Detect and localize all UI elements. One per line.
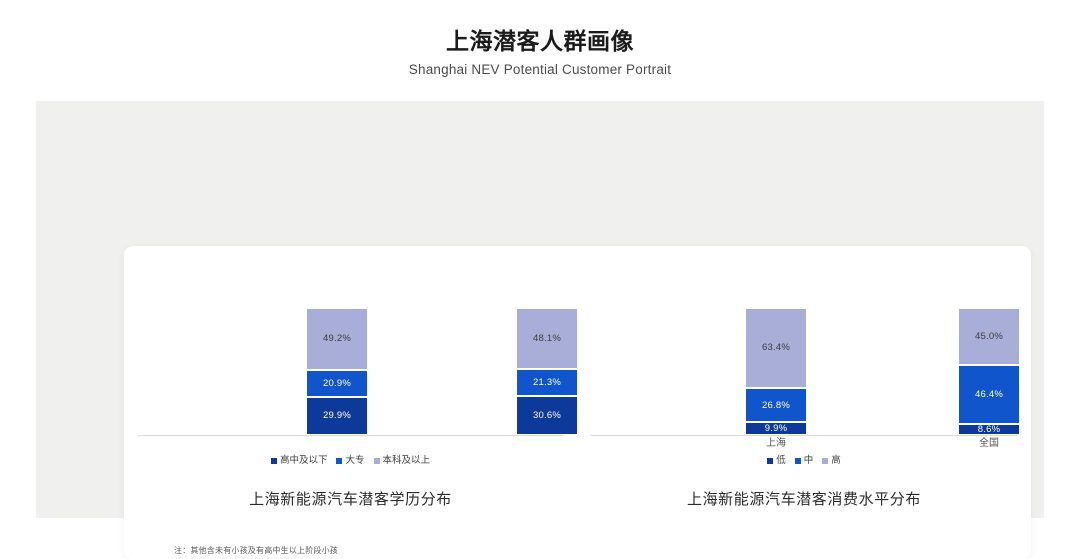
chart-card: 49.2% 20.9% 29.9% 48.1% 21.3% 30.6% — [124, 246, 1031, 559]
plot-area-consumption: 63.4% 26.8% 9.9% 45.0% 46.4% 8.6% — [577, 246, 1031, 436]
bar-segment-mid: 20.9% — [306, 370, 368, 397]
legend-swatch-icon — [271, 458, 277, 464]
plot-area-education: 49.2% 20.9% 29.9% 48.1% 21.3% 30.6% — [124, 246, 577, 436]
bar-segment-low: 30.6% — [516, 396, 578, 435]
x-tick-label: 上海 — [731, 437, 821, 451]
legend-label: 本科及以上 — [383, 455, 431, 467]
bar-segment-low: 9.9% — [745, 422, 807, 435]
bar-segment-mid: 21.3% — [516, 369, 578, 396]
x-axis-labels — [124, 437, 577, 453]
legend-item[interactable]: 高中及以下 — [271, 455, 328, 467]
bar-segment-high: 48.1% — [516, 308, 578, 369]
chart-caption: 上海新能源汽车潜客学历分布 — [124, 489, 577, 511]
stacked-bar[interactable]: 63.4% 26.8% 9.9% — [745, 308, 807, 435]
legend-consumption: 低 中 高 — [577, 455, 1031, 467]
x-axis-line — [138, 435, 563, 436]
page-header: 上海潜客人群画像 Shanghai NEV Potential Customer… — [0, 0, 1080, 79]
legend-label: 低 — [776, 455, 786, 467]
legend-item[interactable]: 本科及以上 — [374, 455, 431, 467]
chart-education: 49.2% 20.9% 29.9% 48.1% 21.3% 30.6% — [124, 246, 577, 559]
bar-segment-mid: 46.4% — [958, 365, 1020, 424]
chart-caption: 上海新能源汽车潜客消费水平分布 — [577, 489, 1031, 511]
x-tick-label: 全国 — [944, 437, 1034, 451]
stacked-bar[interactable]: 49.2% 20.9% 29.9% — [306, 308, 368, 435]
slide-panel: 49.2% 20.9% 29.9% 48.1% 21.3% 30.6% — [36, 101, 1044, 518]
bar-segment-mid: 26.8% — [745, 388, 807, 422]
legend-item[interactable]: 低 — [767, 455, 786, 467]
legend-swatch-icon — [336, 458, 342, 464]
stacked-bar[interactable]: 45.0% 46.4% 8.6% — [958, 308, 1020, 435]
legend-label: 中 — [804, 455, 814, 467]
charts-container: 49.2% 20.9% 29.9% 48.1% 21.3% 30.6% — [124, 246, 1031, 559]
legend-label: 高中及以下 — [280, 455, 328, 467]
bar-segment-low: 29.9% — [306, 397, 368, 435]
legend-item[interactable]: 大专 — [336, 455, 364, 467]
chart-consumption: 63.4% 26.8% 9.9% 45.0% 46.4% 8.6% 上海 全国 — [577, 246, 1031, 559]
legend-item[interactable]: 高 — [822, 455, 841, 467]
legend-swatch-icon — [374, 458, 380, 464]
bar-segment-low: 8.6% — [958, 424, 1020, 435]
legend-swatch-icon — [822, 458, 828, 464]
legend-item[interactable]: 中 — [795, 455, 814, 467]
legend-swatch-icon — [795, 458, 801, 464]
page-title: 上海潜客人群画像 — [0, 26, 1080, 56]
page-subtitle: Shanghai NEV Potential Customer Portrait — [0, 61, 1080, 79]
bar-segment-high: 45.0% — [958, 308, 1020, 365]
bar-segment-high: 49.2% — [306, 308, 368, 370]
stacked-bar[interactable]: 48.1% 21.3% 30.6% — [516, 308, 578, 435]
x-axis-labels: 上海 全国 — [577, 437, 1031, 453]
legend-education: 高中及以下 大专 本科及以上 — [124, 455, 577, 467]
legend-label: 高 — [831, 455, 841, 467]
bar-segment-high: 63.4% — [745, 308, 807, 388]
legend-swatch-icon — [767, 458, 773, 464]
legend-label: 大专 — [345, 455, 364, 467]
x-axis-line — [591, 435, 1017, 436]
